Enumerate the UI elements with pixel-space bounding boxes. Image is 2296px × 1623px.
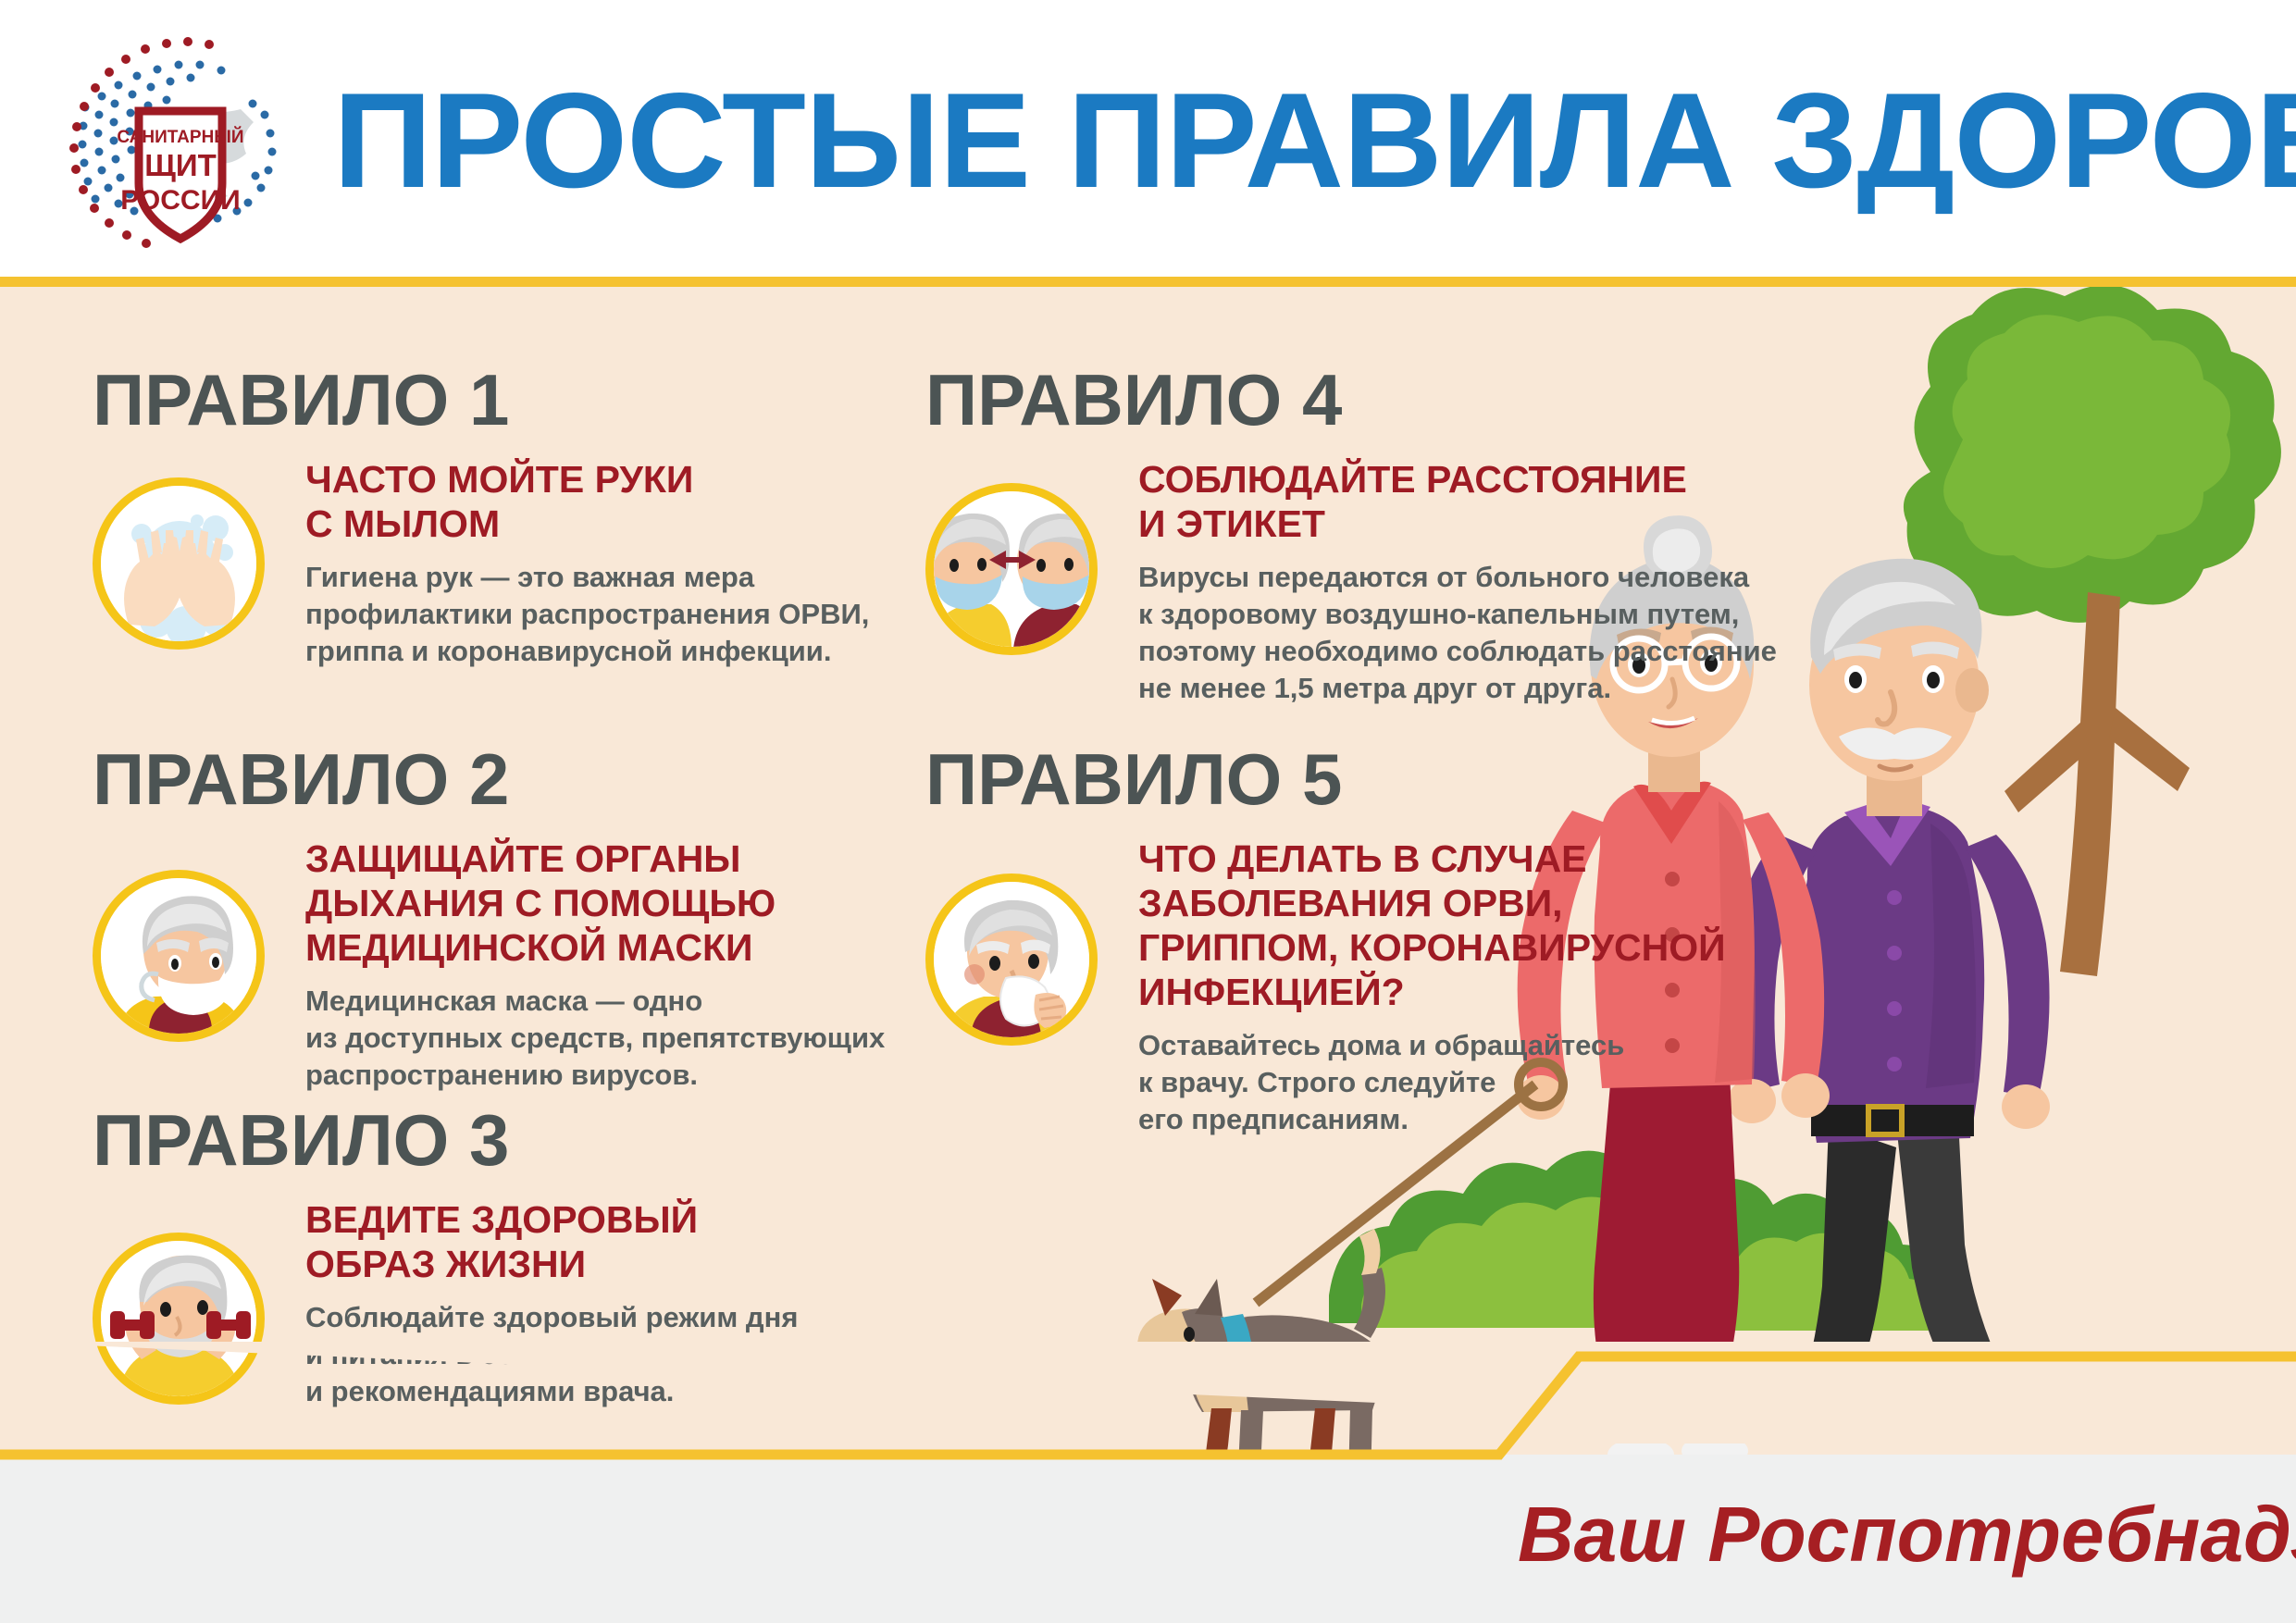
rule-label-2: ПРАВИЛО 2 <box>93 740 509 818</box>
logo-line3: РОССИИ <box>120 185 240 216</box>
rule-desc-2: Медицинская маска — одно из доступных ср… <box>305 983 885 1094</box>
rule-heading-3-line1: ВЕДИТЕ ЗДОРОВЫЙ <box>305 1197 857 1242</box>
rule-desc-5: Оставайтесь дома и обращайтесь к врачу. … <box>1138 1027 1726 1138</box>
rule-desc-1-line1: Гигиена рук — это важная мера <box>305 559 869 596</box>
rule-text-2: ЗАЩИЩАЙТЕ ОРГАНЫ ДЫХАНИЯ С ПОМОЩЬЮ МЕДИЦ… <box>305 836 885 1094</box>
rule-heading-2-line2: ДЫХАНИЯ С ПОМОЩЬЮ <box>305 881 885 925</box>
rule-text-4: СОБЛЮДАЙТЕ РАССТОЯНИЕ И ЭТИКЕТ Вирусы пе… <box>1138 457 1777 707</box>
rule-desc-1: Гигиена рук — это важная мера профилакти… <box>305 559 869 670</box>
rule-desc-2-line3: распространению вирусов. <box>305 1057 885 1094</box>
logo-line1: САНИТАРНЫЙ <box>117 127 243 147</box>
rule-label-3: ПРАВИЛО 3 <box>93 1101 509 1179</box>
rule-block-1: ПРАВИЛО 1 <box>93 361 509 455</box>
rule-heading-5-line4: ИНФЕКЦИЕЙ? <box>1138 970 1726 1014</box>
footer-brand-text: Ваш Роспотребнадзор <box>1518 1490 2296 1580</box>
rule-heading-4-line1: СОБЛЮДАЙТЕ РАССТОЯНИЕ <box>1138 457 1777 502</box>
logo-line2: ЩИТ <box>144 148 217 182</box>
rule-heading-4: СОБЛЮДАЙТЕ РАССТОЯНИЕ И ЭТИКЕТ <box>1138 457 1777 546</box>
rule-heading-1-line1: ЧАСТО МОЙТЕ РУКИ <box>305 457 869 502</box>
rule-desc-1-line2: профилактики распространения ОРВИ, <box>305 596 869 633</box>
rule-desc-5-line2: к врачу. Строго следуйте <box>1138 1064 1726 1101</box>
rule-heading-2: ЗАЩИЩАЙТЕ ОРГАНЫ ДЫХАНИЯ С ПОМОЩЬЮ МЕДИЦ… <box>305 836 885 970</box>
rule-heading-1-line2: С МЫЛОМ <box>305 502 869 546</box>
page-title: ПРОСТЫЕ ПРАВИЛА ЗДОРОВЬЯ <box>333 57 2296 224</box>
rule-desc-5-line3: его предписаниям. <box>1138 1101 1726 1138</box>
poster-header: САНИТАРНЫЙ ЩИТ РОССИИ ПРОСТЫЕ ПРАВИЛА ЗД… <box>0 0 2296 282</box>
rule-label-1: ПРАВИЛО 1 <box>93 361 509 439</box>
rule-desc-4-line4: не менее 1,5 метра друг от друга. <box>1138 670 1777 707</box>
person-wearing-mask-icon <box>93 870 265 1042</box>
rule-label-5: ПРАВИЛО 5 <box>925 740 1342 818</box>
rule-desc-3-line1: Соблюдайте здоровый режим дня <box>305 1299 857 1336</box>
rule-desc-4: Вирусы передаются от больного человека к… <box>1138 559 1777 707</box>
poster-root: САНИТАРНЫЙ ЩИТ РОССИИ ПРОСТЫЕ ПРАВИЛА ЗД… <box>0 0 2296 1623</box>
rule-heading-3-line2: ОБРАЗ ЖИЗНИ <box>305 1242 857 1286</box>
rule-desc-2-line2: из доступных средств, препятствующих <box>305 1020 885 1057</box>
rule-desc-4-line1: Вирусы передаются от больного человека <box>1138 559 1777 596</box>
rule-block-2: ПРАВИЛО 2 <box>93 740 509 835</box>
rule-heading-3: ВЕДИТЕ ЗДОРОВЫЙ ОБРАЗ ЖИЗНИ <box>305 1197 857 1286</box>
rule-desc-1-line3: гриппа и коронавирусной инфекции. <box>305 633 869 670</box>
rule-text-5: ЧТО ДЕЛАТЬ В СЛУЧАЕ ЗАБОЛЕВАНИЯ ОРВИ, ГР… <box>1138 836 1726 1138</box>
rule-heading-5-line2: ЗАБОЛЕВАНИЯ ОРВИ, <box>1138 881 1726 925</box>
rule-heading-5: ЧТО ДЕЛАТЬ В СЛУЧАЕ ЗАБОЛЕВАНИЯ ОРВИ, ГР… <box>1138 836 1726 1014</box>
sneezing-person-icon <box>925 873 1098 1046</box>
header-divider <box>0 277 2296 287</box>
rule-heading-1: ЧАСТО МОЙТЕ РУКИ С МЫЛОМ <box>305 457 869 546</box>
rule-heading-4-line2: И ЭТИКЕТ <box>1138 502 1777 546</box>
rule-heading-5-line3: ГРИППОМ, КОРОНАВИРУСНОЙ <box>1138 925 1726 970</box>
social-distance-icon <box>925 483 1098 655</box>
rule-desc-4-line3: поэтому необходимо соблюдать расстояние <box>1138 633 1777 670</box>
rule-text-1: ЧАСТО МОЙТЕ РУКИ С МЫЛОМ Гигиена рук — э… <box>305 457 869 670</box>
rule-block-3: ПРАВИЛО 3 <box>93 1101 509 1196</box>
rule-heading-2-line3: МЕДИЦИНСКОЙ МАСКИ <box>305 925 885 970</box>
rule-heading-5-line1: ЧТО ДЕЛАТЬ В СЛУЧАЕ <box>1138 836 1726 881</box>
rule-label-4: ПРАВИЛО 4 <box>925 361 1342 439</box>
rule-desc-5-line1: Оставайтесь дома и обращайтесь <box>1138 1027 1726 1064</box>
rule-block-5: ПРАВИЛО 5 <box>925 740 1342 835</box>
rule-heading-2-line1: ЗАЩИЩАЙТЕ ОРГАНЫ <box>305 836 885 881</box>
washing-hands-icon <box>93 477 265 650</box>
rule-desc-4-line2: к здоровому воздушно-капельным путем, <box>1138 596 1777 633</box>
rule-desc-2-line1: Медицинская маска — одно <box>305 983 885 1020</box>
sanitary-shield-of-russia-logo: САНИТАРНЫЙ ЩИТ РОССИИ <box>56 19 305 268</box>
rules-content-area: ПРАВИЛО 1 <box>0 287 2296 1455</box>
rule-block-4: ПРАВИЛО 4 <box>925 361 1342 455</box>
